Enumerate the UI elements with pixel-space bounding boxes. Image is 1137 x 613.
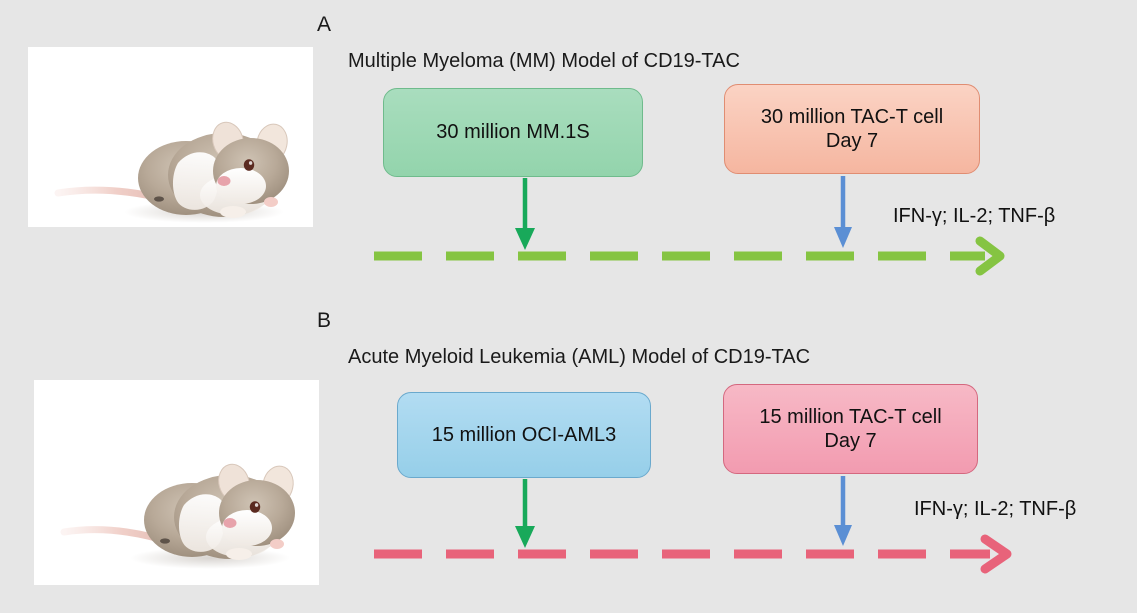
tumor-box-label-b: 15 million OCI-AML3	[432, 423, 617, 447]
panel-letter-a: A	[317, 14, 331, 35]
panel-title-b: Acute Myeloid Leukemia (AML) Model of CD…	[348, 347, 810, 367]
timeline-b	[374, 539, 1007, 569]
panel-title-a: Multiple Myeloma (MM) Model of CD19-TAC	[348, 51, 740, 71]
mouse-photo-panel-a	[28, 47, 313, 227]
tumor-box-panel-a[interactable]: 30 million MM.1S	[383, 88, 643, 177]
treatment-box-line2-b: Day 7	[824, 429, 876, 453]
treatment-injection-arrow-b	[834, 476, 852, 546]
timeline-a	[374, 241, 1000, 271]
tumor-box-panel-b[interactable]: 15 million OCI-AML3	[397, 392, 651, 478]
treatment-box-line1-a: 30 million TAC-T cell	[761, 105, 943, 129]
tumor-injection-arrow-a	[515, 178, 535, 250]
mouse-photo-panel-b	[34, 380, 319, 585]
treatment-box-panel-a[interactable]: 30 million TAC-T cell Day 7	[724, 84, 980, 174]
tumor-injection-arrow-b	[515, 479, 535, 548]
treatment-box-panel-b[interactable]: 15 million TAC-T cell Day 7	[723, 384, 978, 474]
panel-letter-b: B	[317, 310, 331, 331]
figure-root: A Multiple Myeloma (MM) Model of CD19-TA…	[0, 0, 1137, 613]
mouse-illustration-a	[28, 47, 313, 227]
cytokine-label-b: IFN-γ; IL-2; TNF-β	[914, 499, 1076, 519]
mouse-illustration-b	[34, 380, 319, 585]
treatment-injection-arrow-a	[834, 176, 852, 248]
tumor-box-label-a: 30 million MM.1S	[436, 120, 589, 144]
cytokine-label-a: IFN-γ; IL-2; TNF-β	[893, 206, 1055, 226]
treatment-box-line1-b: 15 million TAC-T cell	[759, 405, 941, 429]
treatment-box-line2-a: Day 7	[826, 129, 878, 153]
